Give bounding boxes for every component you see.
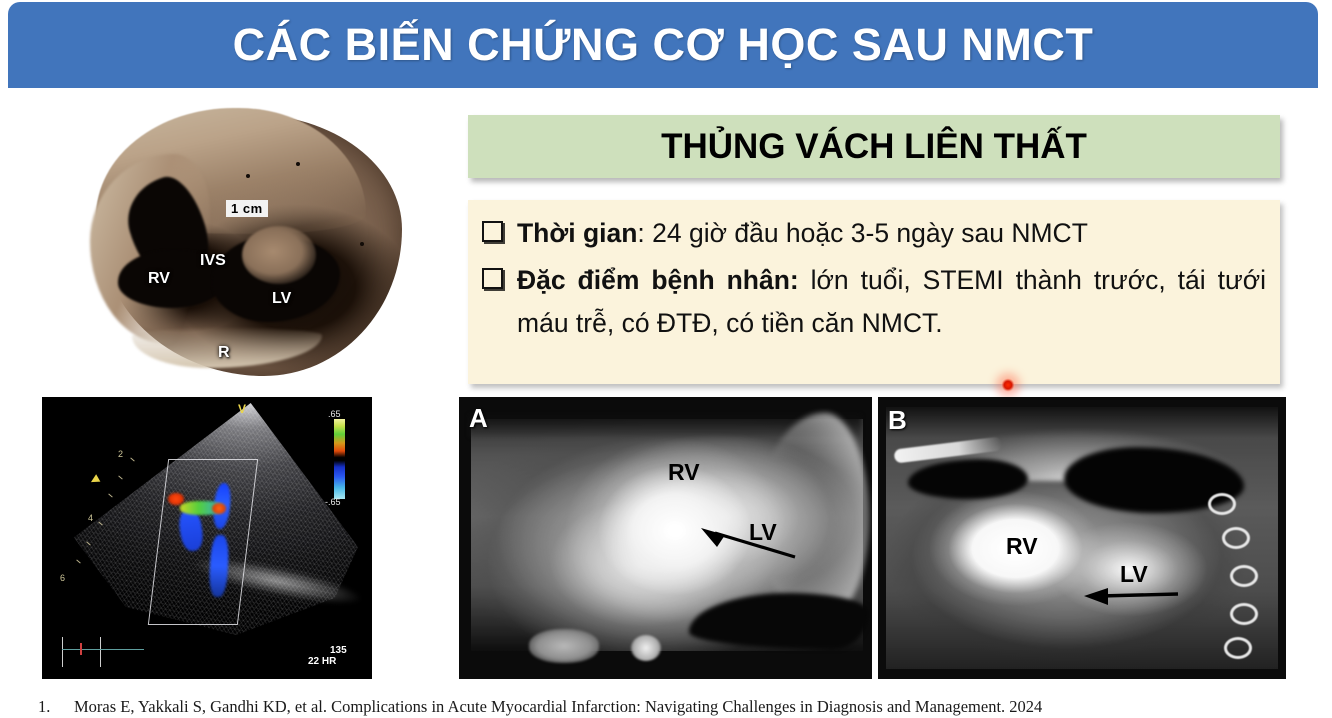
- depth-tick-6: 6: [60, 573, 65, 583]
- bullet-1-lead: Thời gian: [517, 218, 637, 248]
- ct-a-vertebra: [529, 629, 599, 663]
- echo-focus-caret-icon: ◀: [87, 472, 101, 487]
- ct-figure-panel-a: A RV LV: [459, 397, 872, 679]
- ecg-caliper-right: [100, 637, 101, 667]
- doppler-jet-orange: [168, 493, 184, 505]
- ct-b-rib: [1208, 493, 1236, 515]
- bullet-1-sep: :: [637, 218, 652, 248]
- bullet-2-lead: Đặc điểm bệnh nhân:: [517, 265, 799, 295]
- echo-apex-marker: V: [238, 402, 246, 416]
- bullet-1-rest: 24 giờ đầu hoặc 3-5 ngày sau NMCT: [652, 218, 1088, 248]
- content-text-box: Thời gian: 24 giờ đầu hoặc 3-5 ngày sau …: [468, 200, 1280, 384]
- specimen-label-lv: LV: [272, 290, 291, 308]
- depth-tick-mark: [130, 458, 134, 462]
- ct-b-rib: [1230, 603, 1258, 625]
- ct-b-rib: [1224, 637, 1252, 659]
- lv-trabeculae: [242, 226, 316, 284]
- echocardiogram-figure: V ◀ 2 4 6 .65 -.65 135 22 HR: [42, 397, 372, 679]
- ct-figure-panel-b: B RV LV: [878, 397, 1286, 679]
- slide-title: CÁC BIẾN CHỨNG CƠ HỌC SAU NMCT: [233, 19, 1094, 71]
- echo-readout-primary: 135: [330, 645, 347, 656]
- ct-b-defect-arrow: [1078, 583, 1184, 611]
- depth-tick-mark: [76, 560, 80, 564]
- colorbar-max-label: .65: [328, 409, 341, 419]
- depth-tick-2: 2: [118, 449, 123, 459]
- square-bullet-icon: [482, 221, 503, 242]
- scale-bar-label: 1 cm: [226, 200, 268, 217]
- specimen-pin-dot: [246, 174, 250, 178]
- specimen-label-rv: RV: [148, 270, 170, 288]
- specimen-pin-dot: [296, 162, 300, 166]
- bullet-2-sep: [799, 265, 811, 295]
- doppler-colorbar: [334, 419, 345, 499]
- citation-reference: 1.Moras E, Yakkali S, Gandhi KD, et al. …: [38, 697, 1298, 717]
- depth-tick-4: 4: [88, 513, 93, 523]
- ct-a-label-rv: RV: [668, 459, 700, 486]
- ecg-baseline: [62, 649, 144, 650]
- laser-pointer-dot: [1001, 378, 1015, 392]
- slide-title-banner: CÁC BIẾN CHỨNG CƠ HỌC SAU NMCT: [8, 2, 1318, 88]
- echo-readout-heart-rate: 22 HR: [308, 656, 336, 667]
- citation-number: 1.: [38, 697, 74, 717]
- ecg-trace: [62, 637, 144, 667]
- section-heading-box: THỦNG VÁCH LIÊN THẤT: [468, 115, 1280, 178]
- bullet-item-1-text: Thời gian: 24 giờ đầu hoặc 3-5 ngày sau …: [517, 212, 1266, 255]
- specimen-label-ivs: IVS: [200, 252, 226, 270]
- ecg-caliper-left: [62, 637, 63, 667]
- bullet-item-2: Đặc điểm bệnh nhân: lớn tuổi, STEMI thàn…: [482, 259, 1266, 345]
- specimen-pin-dot: [360, 242, 364, 246]
- ct-b-rib: [1230, 565, 1258, 587]
- ct-a-defect-arrow: [695, 525, 801, 561]
- ecg-qrs-spike: [80, 643, 82, 655]
- depth-tick-mark: [118, 476, 122, 480]
- square-bullet-icon: [482, 268, 503, 289]
- doppler-jet-orange: [212, 503, 226, 514]
- ct-b-rib: [1222, 527, 1250, 549]
- specimen-label-r: R: [218, 344, 230, 362]
- colorbar-min-label: -.65: [325, 497, 341, 507]
- ct-panel-a-letter: A: [469, 403, 488, 434]
- ct-a-descending-aorta: [631, 635, 661, 661]
- citation-text: Moras E, Yakkali S, Gandhi KD, et al. Co…: [74, 697, 1042, 716]
- bullet-item-1: Thời gian: 24 giờ đầu hoặc 3-5 ngày sau …: [482, 212, 1266, 255]
- bullet-item-2-text: Đặc điểm bệnh nhân: lớn tuổi, STEMI thàn…: [517, 259, 1266, 345]
- ct-b-label-rv: RV: [1006, 533, 1038, 560]
- depth-tick-mark: [108, 494, 112, 498]
- section-heading: THỦNG VÁCH LIÊN THẤT: [661, 127, 1087, 167]
- ct-panel-b-letter: B: [888, 405, 907, 436]
- pathology-specimen-figure: 1 cm IVS RV LV R: [60, 100, 440, 385]
